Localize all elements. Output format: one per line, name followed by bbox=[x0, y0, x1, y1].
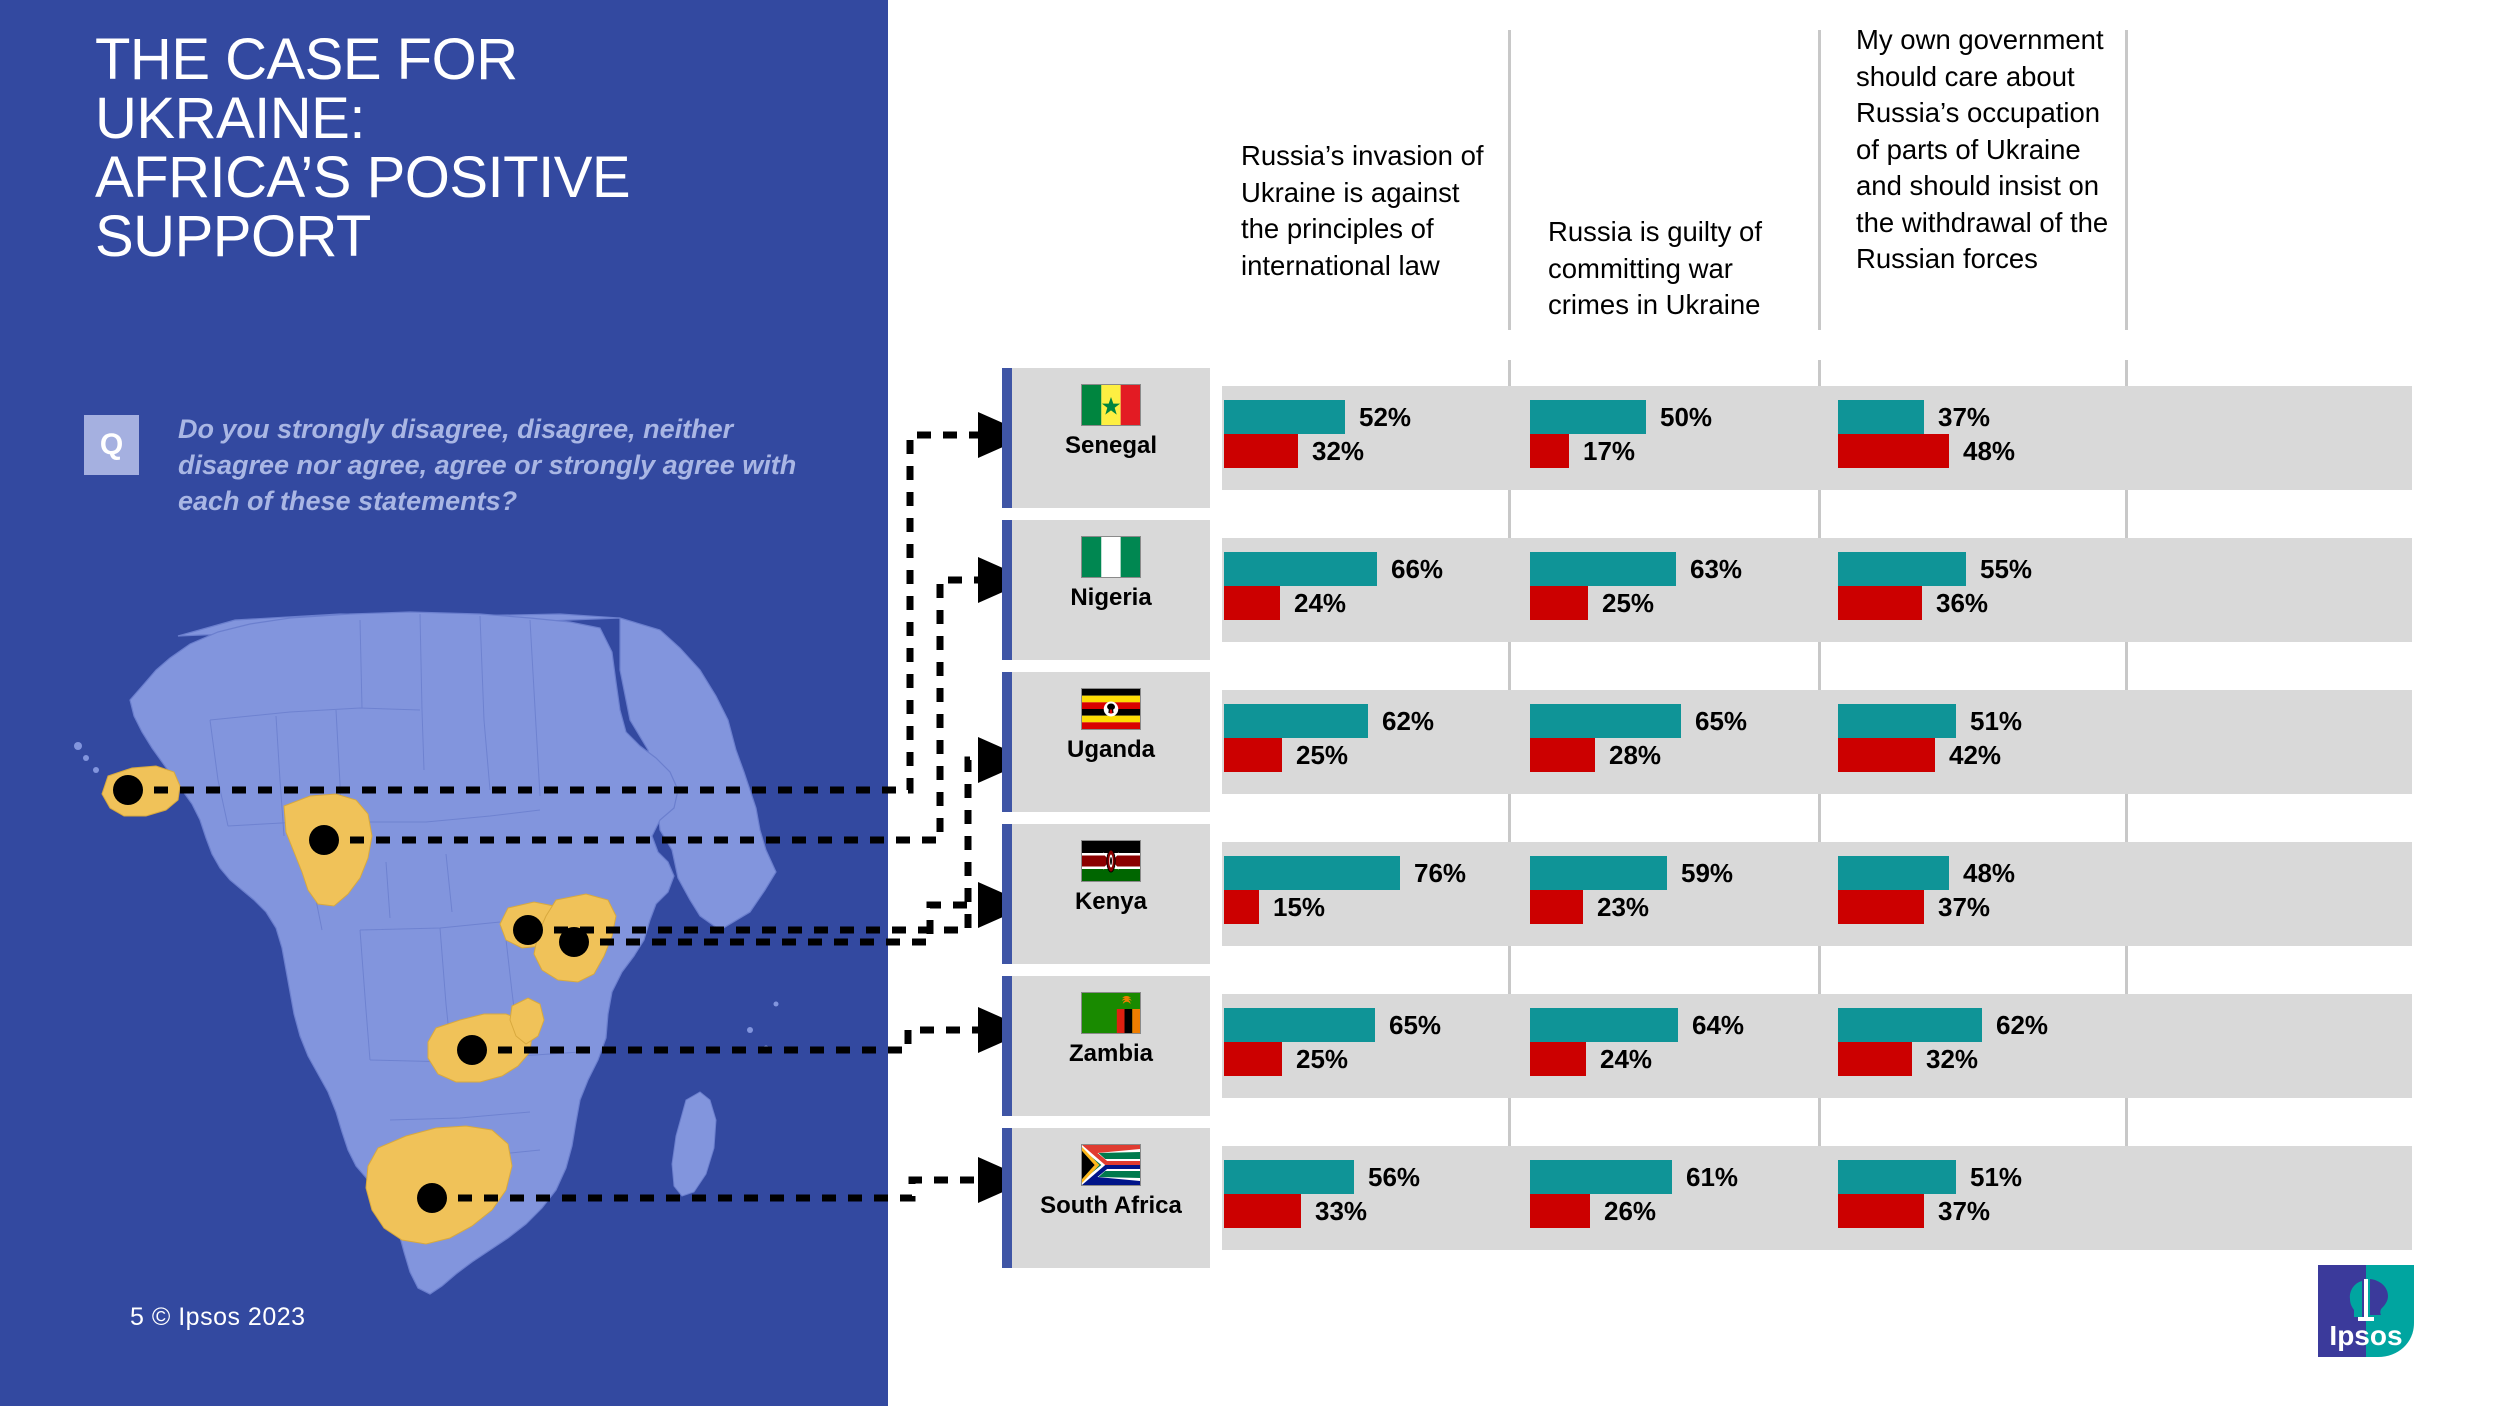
bar-label-disagree-senegal-col3: 48% bbox=[1963, 434, 2015, 468]
bar-disagree-south-africa-col1 bbox=[1224, 1194, 1301, 1228]
bar-label-agree-nigeria-col3: 55% bbox=[1980, 552, 2032, 586]
zambia-flag bbox=[1081, 992, 1141, 1034]
bar-disagree-south-africa-col2 bbox=[1530, 1194, 1590, 1228]
bar-agree-uganda-col3 bbox=[1838, 704, 1956, 738]
bar-agree-zambia-col1 bbox=[1224, 1008, 1375, 1042]
map-marker-senegal bbox=[113, 775, 143, 805]
column-divider-2-body bbox=[1818, 360, 1821, 1250]
map-marker-nigeria bbox=[309, 825, 339, 855]
bar-agree-senegal-col3 bbox=[1838, 400, 1924, 434]
bar-agree-south-africa-col2 bbox=[1530, 1160, 1672, 1194]
bar-agree-south-africa-col1 bbox=[1224, 1160, 1354, 1194]
bar-label-agree-zambia-col3: 62% bbox=[1996, 1008, 2048, 1042]
bar-label-disagree-zambia-col1: 25% bbox=[1296, 1042, 1348, 1076]
bar-agree-senegal-col2 bbox=[1530, 400, 1646, 434]
bar-disagree-zambia-col1 bbox=[1224, 1042, 1282, 1076]
bar-disagree-zambia-col3 bbox=[1838, 1042, 1912, 1076]
bar-disagree-nigeria-col2 bbox=[1530, 586, 1588, 620]
africa-map-svg bbox=[60, 600, 860, 1320]
bar-agree-kenya-col1 bbox=[1224, 856, 1400, 890]
kenya-flag bbox=[1081, 840, 1141, 882]
bar-label-agree-senegal-col2: 50% bbox=[1660, 400, 1712, 434]
bar-label-disagree-nigeria-col3: 36% bbox=[1936, 586, 1988, 620]
senegal-flag bbox=[1081, 384, 1141, 426]
column-header-3: My own government should care about Russ… bbox=[1856, 22, 2128, 278]
country-label: Uganda bbox=[1012, 736, 1210, 764]
bar-label-agree-nigeria-col2: 63% bbox=[1690, 552, 1742, 586]
slide-root: THE CASE FOR UKRAINE: AFRICA’S POSITIVE … bbox=[0, 0, 2500, 1406]
south-africa-flag bbox=[1081, 1144, 1141, 1186]
bar-agree-zambia-col3 bbox=[1838, 1008, 1982, 1042]
ipsos-logo: Ipsos bbox=[2318, 1265, 2414, 1357]
uganda-flag bbox=[1081, 688, 1141, 730]
bar-label-disagree-uganda-col2: 28% bbox=[1609, 738, 1661, 772]
column-divider-1-body bbox=[1508, 360, 1511, 1250]
bar-label-disagree-uganda-col3: 42% bbox=[1949, 738, 2001, 772]
column-divider-2 bbox=[1818, 30, 1821, 330]
bar-label-disagree-senegal-col1: 32% bbox=[1312, 434, 1364, 468]
bar-label-agree-south-africa-col1: 56% bbox=[1368, 1160, 1420, 1194]
country-label: Senegal bbox=[1012, 432, 1210, 460]
bar-label-agree-south-africa-col2: 61% bbox=[1686, 1160, 1738, 1194]
bar-label-agree-kenya-col2: 59% bbox=[1681, 856, 1733, 890]
bar-disagree-senegal-col1 bbox=[1224, 434, 1298, 468]
bar-disagree-kenya-col3 bbox=[1838, 890, 1924, 924]
bar-agree-nigeria-col1 bbox=[1224, 552, 1377, 586]
bar-label-agree-zambia-col1: 65% bbox=[1389, 1008, 1441, 1042]
bar-agree-nigeria-col3 bbox=[1838, 552, 1966, 586]
bar-label-disagree-senegal-col2: 17% bbox=[1583, 434, 1635, 468]
bar-label-agree-south-africa-col3: 51% bbox=[1970, 1160, 2022, 1194]
column-divider-3-body bbox=[2125, 360, 2128, 1250]
bar-disagree-uganda-col2 bbox=[1530, 738, 1595, 772]
country-label: Kenya bbox=[1012, 888, 1210, 916]
bar-disagree-uganda-col1 bbox=[1224, 738, 1282, 772]
bar-label-agree-senegal-col1: 52% bbox=[1359, 400, 1411, 434]
bar-disagree-nigeria-col1 bbox=[1224, 586, 1280, 620]
bar-label-disagree-south-africa-col2: 26% bbox=[1604, 1194, 1656, 1228]
bar-label-agree-uganda-col3: 51% bbox=[1970, 704, 2022, 738]
bar-label-agree-nigeria-col1: 66% bbox=[1391, 552, 1443, 586]
country-cell-kenya[interactable]: Kenya bbox=[1012, 824, 1210, 964]
bar-agree-zambia-col2 bbox=[1530, 1008, 1678, 1042]
bar-label-disagree-south-africa-col1: 33% bbox=[1315, 1194, 1367, 1228]
column-header-2: Russia is guilty of committing war crime… bbox=[1548, 214, 1810, 324]
country-cell-zambia[interactable]: Zambia bbox=[1012, 976, 1210, 1116]
bar-label-agree-kenya-col1: 76% bbox=[1414, 856, 1466, 890]
bar-disagree-uganda-col3 bbox=[1838, 738, 1935, 772]
column-header-1: Russia’s invasion of Ukraine is against … bbox=[1241, 138, 1496, 284]
bar-label-disagree-zambia-col2: 24% bbox=[1600, 1042, 1652, 1076]
column-divider-3 bbox=[2125, 30, 2128, 330]
bar-label-disagree-nigeria-col2: 25% bbox=[1602, 586, 1654, 620]
bar-agree-kenya-col2 bbox=[1530, 856, 1667, 890]
bar-label-agree-senegal-col3: 37% bbox=[1938, 400, 1990, 434]
page-title: THE CASE FOR UKRAINE: AFRICA’S POSITIVE … bbox=[95, 30, 855, 267]
bar-label-agree-uganda-col2: 65% bbox=[1695, 704, 1747, 738]
bar-label-disagree-zambia-col3: 32% bbox=[1926, 1042, 1978, 1076]
question-badge: Q bbox=[84, 415, 139, 475]
row-band bbox=[1222, 842, 2412, 946]
bar-label-disagree-kenya-col3: 37% bbox=[1938, 890, 1990, 924]
bar-label-disagree-kenya-col1: 15% bbox=[1273, 890, 1325, 924]
country-label: Nigeria bbox=[1012, 584, 1210, 612]
country-label: South Africa bbox=[1012, 1192, 1210, 1220]
column-divider-1 bbox=[1508, 30, 1511, 330]
bar-label-disagree-uganda-col1: 25% bbox=[1296, 738, 1348, 772]
country-cell-uganda[interactable]: Uganda bbox=[1012, 672, 1210, 812]
bar-agree-uganda-col2 bbox=[1530, 704, 1681, 738]
bar-label-agree-kenya-col3: 48% bbox=[1963, 856, 2015, 890]
country-label: Zambia bbox=[1012, 1040, 1210, 1068]
map-marker-uganda bbox=[513, 915, 543, 945]
bar-disagree-nigeria-col3 bbox=[1838, 586, 1922, 620]
nigeria-flag bbox=[1081, 536, 1141, 578]
bar-label-agree-uganda-col1: 62% bbox=[1382, 704, 1434, 738]
africa-map bbox=[60, 600, 860, 1320]
country-cell-senegal[interactable]: Senegal bbox=[1012, 368, 1210, 508]
question-text: Do you strongly disagree, disagree, neit… bbox=[178, 412, 838, 520]
bar-label-disagree-nigeria-col1: 24% bbox=[1294, 586, 1346, 620]
country-cell-south-africa[interactable]: South Africa bbox=[1012, 1128, 1210, 1268]
bar-agree-nigeria-col2 bbox=[1530, 552, 1676, 586]
bar-disagree-senegal-col2 bbox=[1530, 434, 1569, 468]
bar-label-disagree-south-africa-col3: 37% bbox=[1938, 1194, 1990, 1228]
map-marker-kenya bbox=[559, 927, 589, 957]
bar-disagree-kenya-col1 bbox=[1224, 890, 1259, 924]
map-marker-zambia bbox=[457, 1035, 487, 1065]
bar-agree-uganda-col1 bbox=[1224, 704, 1368, 738]
country-cell-nigeria[interactable]: Nigeria bbox=[1012, 520, 1210, 660]
bar-disagree-south-africa-col3 bbox=[1838, 1194, 1924, 1228]
ipsos-logo-svg: Ipsos bbox=[2318, 1265, 2414, 1357]
bar-disagree-senegal-col3 bbox=[1838, 434, 1949, 468]
bar-agree-south-africa-col3 bbox=[1838, 1160, 1956, 1194]
bar-label-agree-zambia-col2: 64% bbox=[1692, 1008, 1744, 1042]
map-marker-south-africa bbox=[417, 1183, 447, 1213]
bar-agree-kenya-col3 bbox=[1838, 856, 1949, 890]
bar-agree-senegal-col1 bbox=[1224, 400, 1345, 434]
bar-disagree-zambia-col2 bbox=[1530, 1042, 1586, 1076]
ipsos-logo-wordmark: Ipsos bbox=[2329, 1320, 2402, 1351]
bar-label-disagree-kenya-col2: 23% bbox=[1597, 890, 1649, 924]
bar-disagree-kenya-col2 bbox=[1530, 890, 1583, 924]
